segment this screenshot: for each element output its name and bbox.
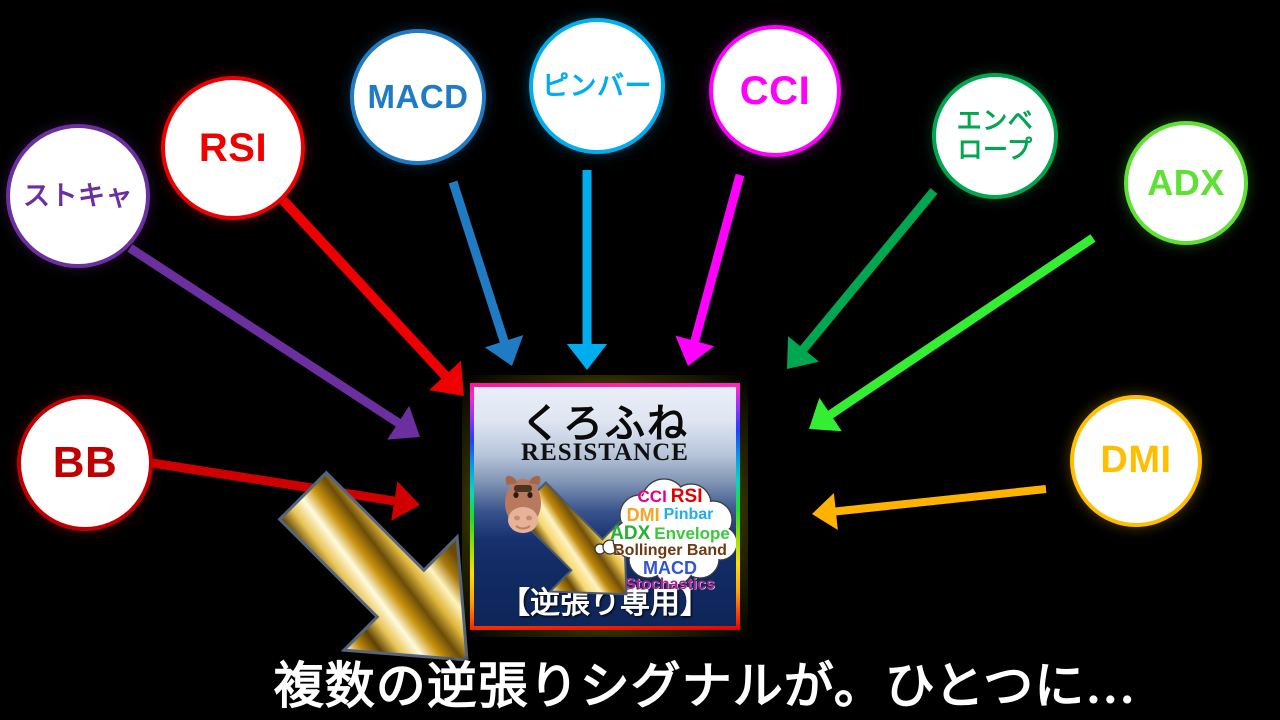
indicator-bubble-label: RSI (195, 127, 271, 169)
indicator-word-adx: ADX (610, 524, 650, 543)
indicator-bubble-dmi[interactable]: DMI (1070, 395, 1202, 527)
indicator-list-row: MACD (600, 559, 736, 577)
indicator-bubble-label: ピンバー (538, 72, 656, 100)
indicator-list: CCIRSIDMIPinbarADXEnvelopeBollinger Band… (600, 487, 736, 593)
indicator-word-stochastics: Stochastics (625, 577, 715, 593)
indicator-bubble-label: ストキャ (19, 182, 137, 210)
indicator-bubble-label: MACD (364, 80, 473, 115)
bottom-caption: 複数の逆張りシグナルが。ひとつに… (0, 646, 1280, 718)
indicator-list-row: Stochastics (600, 577, 736, 593)
indicator-word-macd: MACD (643, 559, 697, 577)
indicator-word-dmi: DMI (627, 506, 660, 524)
indicator-bubble-label: ADX (1143, 164, 1229, 202)
indicator-list-row: ADXEnvelope (600, 524, 736, 543)
indicator-bubble-label: CCI (736, 70, 814, 112)
product-card-inner: くろふね RESISTANCE (474, 387, 736, 626)
indicator-bubble-rsi[interactable]: RSI (161, 76, 305, 220)
indicator-bubble-label: BB (49, 440, 122, 486)
indicator-list-row: CCIRSI (600, 487, 736, 506)
indicator-bubble-stochastics[interactable]: ストキャ (6, 124, 150, 268)
indicator-word-bollinger-band: Bollinger Band (613, 543, 727, 559)
product-card[interactable]: くろふね RESISTANCE (470, 383, 740, 630)
indicator-bubble-pinbar[interactable]: ピンバー (529, 18, 665, 154)
slide-canvas: くろふね RESISTANCE (0, 0, 1280, 720)
indicator-word-pinbar: Pinbar (664, 507, 714, 523)
indicator-bubble-macd[interactable]: MACD (350, 29, 486, 165)
indicator-bubble-label: エンベロープ (953, 107, 1038, 166)
indicator-list-row: DMIPinbar (600, 506, 736, 524)
horse-mascot-icon (494, 473, 552, 537)
indicator-bubble-cci[interactable]: CCI (709, 25, 841, 157)
indicator-word-cci: CCI (638, 488, 667, 505)
indicator-bubble-label: DMI (1096, 441, 1175, 481)
indicator-word-envelope: Envelope (654, 525, 730, 542)
indicator-word-rsi: RSI (671, 487, 703, 506)
product-card-subtitle: RESISTANCE (474, 439, 736, 467)
indicator-list-row: Bollinger Band (600, 543, 736, 559)
indicator-bubble-envelope[interactable]: エンベロープ (932, 73, 1058, 199)
indicator-bubble-bb[interactable]: BB (17, 395, 153, 531)
indicator-bubble-adx[interactable]: ADX (1124, 121, 1248, 245)
